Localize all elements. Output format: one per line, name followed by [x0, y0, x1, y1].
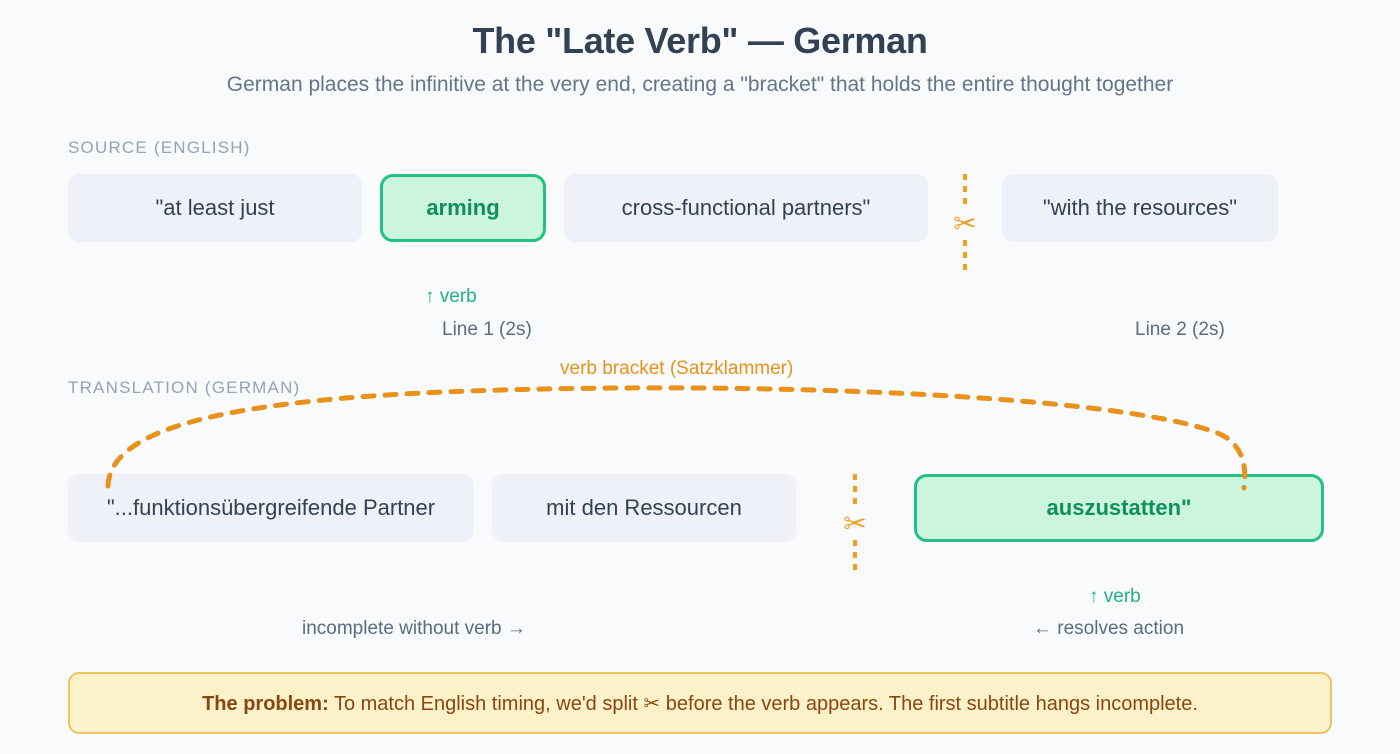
- translation-chip-row: "...funktionsübergreifende Partner mit d…: [68, 474, 1332, 574]
- dashed-line-bottom: [853, 540, 857, 574]
- incomplete-without-verb-label: incomplete without verb →: [302, 618, 526, 640]
- verb-bracket-label: verb bracket (Satzklammer): [560, 358, 793, 380]
- source-chip-4[interactable]: "with the resources": [1002, 174, 1278, 242]
- callout-prefix: The problem:: [202, 693, 329, 715]
- problem-callout: The problem: To match English timing, we…: [68, 672, 1332, 734]
- translation-chip-verb[interactable]: auszustatten": [914, 474, 1324, 542]
- dashed-line-top: [963, 174, 967, 208]
- source-chip-verb[interactable]: arming: [380, 174, 546, 242]
- scissors-icon: ✂: [953, 210, 976, 238]
- translation-section-label: TRANSLATION (GERMAN): [68, 378, 1332, 398]
- callout-body: To match English timing, we'd split ✂ be…: [329, 693, 1198, 715]
- verb-bracket-arc: [0, 0, 1400, 749]
- scissors-separator-translation[interactable]: ✂: [836, 474, 874, 574]
- page-subtitle: German places the infinitive at the very…: [68, 71, 1332, 98]
- verb-bracket-overlay: verb bracket (Satzklammer): [0, 0, 1400, 749]
- scissors-icon: ✂: [843, 510, 866, 538]
- source-chip-row: "at least just arming cross-functional p…: [68, 174, 1332, 274]
- dashed-line-top: [853, 474, 857, 508]
- dashed-line-bottom: [963, 240, 967, 274]
- translation-chip-1[interactable]: "...funktionsübergreifende Partner: [68, 474, 474, 542]
- line-1-label: Line 1 (2s): [442, 319, 532, 341]
- translation-chip-2[interactable]: mit den Ressourcen: [492, 474, 796, 542]
- source-section-label: SOURCE (ENGLISH): [68, 138, 1332, 158]
- late-verb-diagram: The "Late Verb" — German German places t…: [0, 0, 1400, 749]
- source-chip-1[interactable]: "at least just: [68, 174, 362, 242]
- source-verb-tag: ↑ verb: [425, 286, 477, 308]
- callout-text: The problem: To match English timing, we…: [202, 691, 1198, 716]
- source-chip-3[interactable]: cross-functional partners": [564, 174, 928, 242]
- translation-verb-tag: ↑ verb: [1089, 586, 1141, 608]
- line-2-label: Line 2 (2s): [1135, 319, 1225, 341]
- resolves-action-label: ← resolves action: [1033, 618, 1184, 640]
- page-title: The "Late Verb" — German: [68, 0, 1332, 63]
- scissors-separator-source[interactable]: ✂: [946, 174, 984, 274]
